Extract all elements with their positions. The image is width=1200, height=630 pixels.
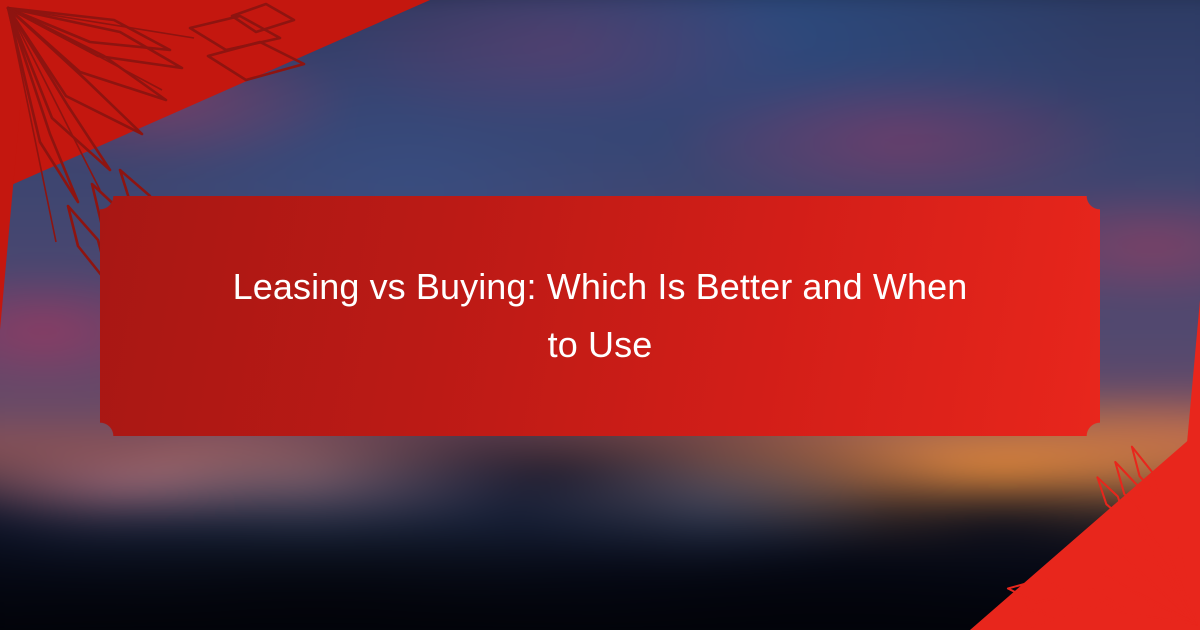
page-title: Leasing vs Buying: Which Is Better and W… <box>220 258 980 374</box>
share-card-canvas: Leasing vs Buying: Which Is Better and W… <box>0 0 1200 630</box>
title-card: Leasing vs Buying: Which Is Better and W… <box>100 196 1100 436</box>
